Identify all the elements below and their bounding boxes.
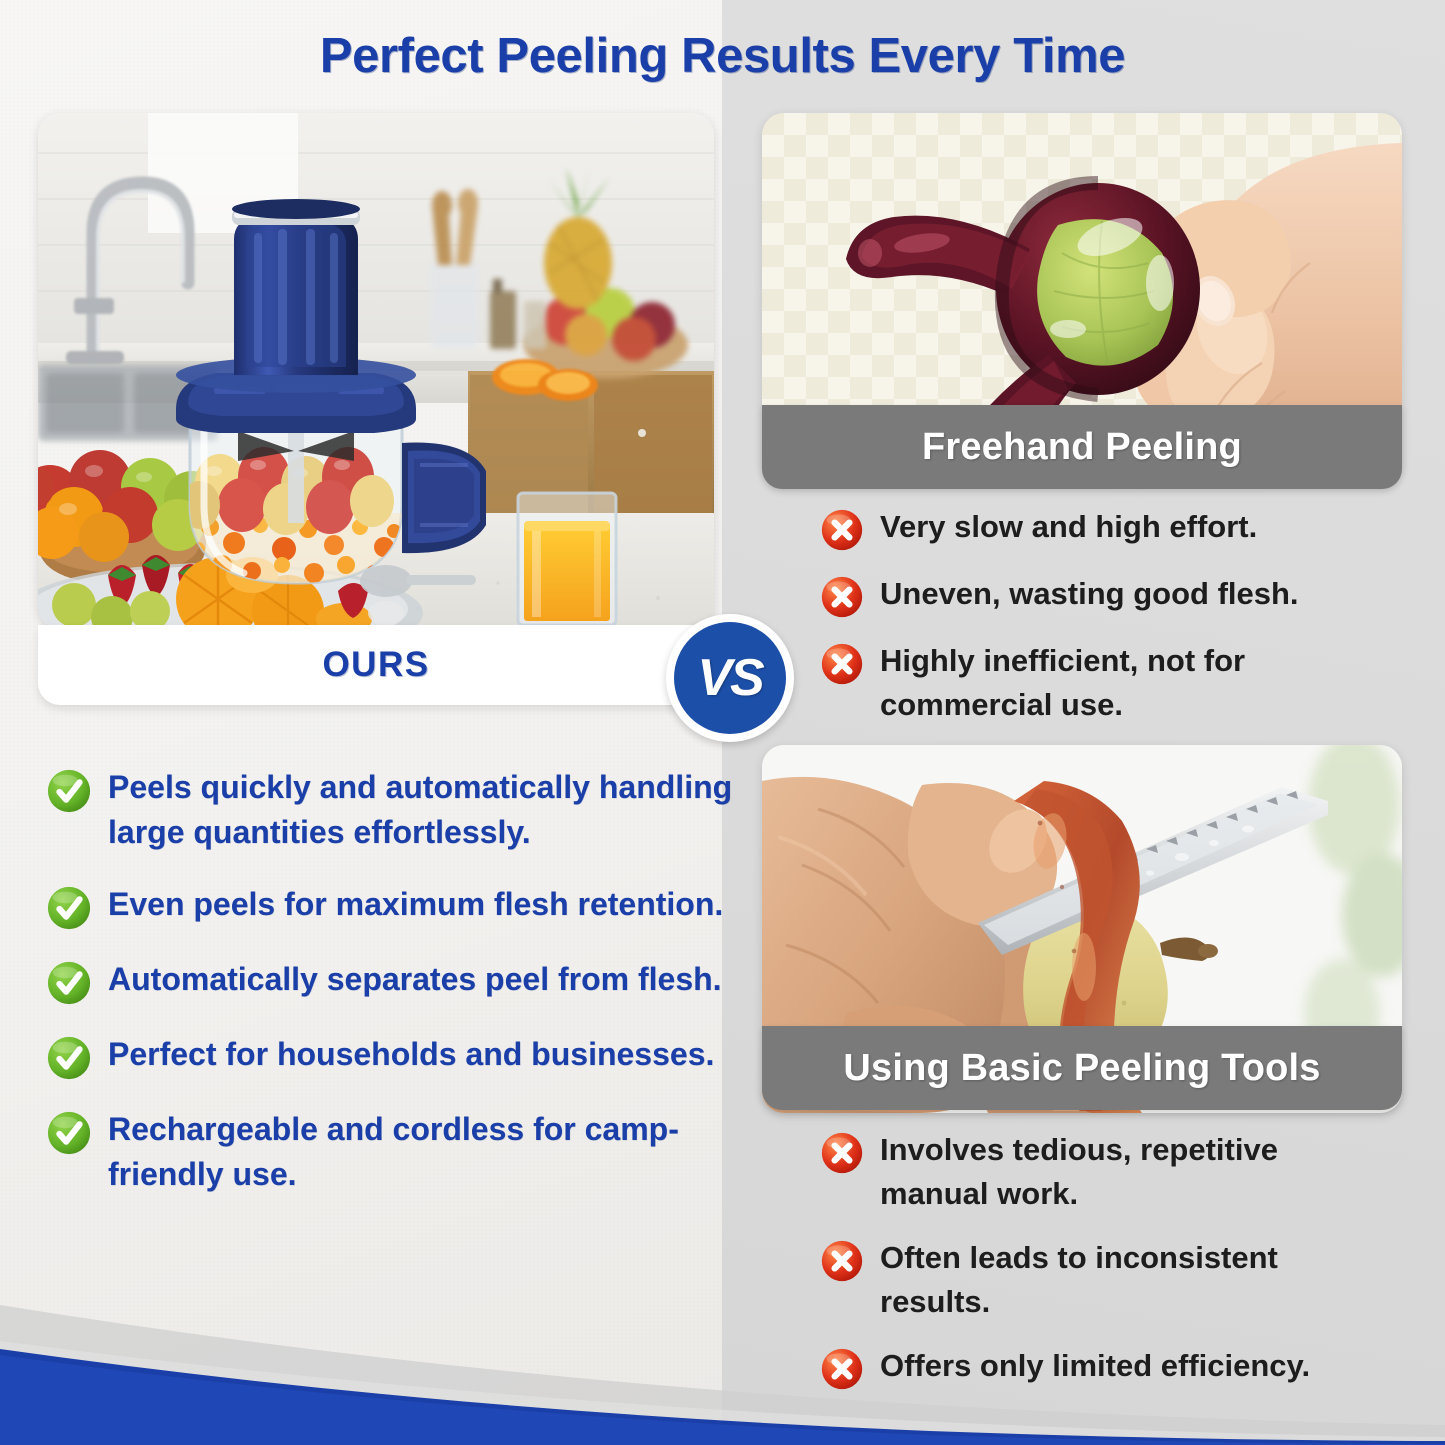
list-item-text: Even peels for maximum flesh retention. <box>108 882 723 927</box>
list-item-text: Involves tedious, repetitive manual work… <box>880 1128 1380 1216</box>
infographic-canvas: OURS VS <box>0 0 1445 1445</box>
list-item: Rechargeable and cordless for camp-frien… <box>46 1107 746 1198</box>
list-item: Uneven, wasting good flesh. <box>820 572 1380 619</box>
check-circle-icon <box>46 768 92 814</box>
list-item-text: Uneven, wasting good flesh. <box>880 572 1299 616</box>
list-item: Peels quickly and automatically handling… <box>46 765 746 856</box>
list-item-text: Very slow and high effort. <box>880 505 1257 549</box>
cross-circle-icon <box>820 508 864 552</box>
cross-circle-icon <box>820 575 864 619</box>
list-item-text: Perfect for households and businesses. <box>108 1032 714 1077</box>
list-item: Involves tedious, repetitive manual work… <box>820 1128 1380 1216</box>
freehand-peeling-label: Freehand Peeling <box>922 426 1242 469</box>
list-item-text: Rechargeable and cordless for camp-frien… <box>108 1107 746 1198</box>
check-circle-icon <box>46 1035 92 1081</box>
list-item: Perfect for households and businesses. <box>46 1032 746 1081</box>
versus-badge: VS <box>666 614 794 742</box>
list-item: Even peels for maximum flesh retention. <box>46 882 746 931</box>
freehand-peeling-banner: Freehand Peeling <box>762 405 1402 489</box>
page-title: Perfect Peeling Results Every Time <box>0 28 1445 84</box>
check-circle-icon <box>46 960 92 1006</box>
ours-product-photo <box>38 113 714 629</box>
check-circle-icon <box>46 885 92 931</box>
freehand-drawbacks-list: Very slow and high effort. Uneven, wasti… <box>820 505 1380 747</box>
ours-label-card: OURS <box>38 625 714 705</box>
ours-label: OURS <box>322 645 429 685</box>
list-item: Very slow and high effort. <box>820 505 1380 552</box>
list-item-text: Highly inefficient, not for commercial u… <box>880 639 1380 727</box>
cross-circle-icon <box>820 642 864 686</box>
list-item-text: Peels quickly and automatically handling… <box>108 765 746 856</box>
list-item-text: Automatically separates peel from flesh. <box>108 957 722 1002</box>
basic-tools-banner: Using Basic Peeling Tools <box>762 1026 1402 1110</box>
cross-circle-icon <box>820 1131 864 1175</box>
versus-badge-inner: VS <box>674 622 786 734</box>
list-item: Highly inefficient, not for commercial u… <box>820 639 1380 727</box>
bottom-wave-decoration <box>0 1245 1445 1445</box>
ours-benefits-list: Peels quickly and automatically handling… <box>46 765 746 1224</box>
versus-badge-label: VS <box>697 652 762 704</box>
check-circle-icon <box>46 1110 92 1156</box>
basic-tools-label: Using Basic Peeling Tools <box>843 1047 1320 1090</box>
list-item: Automatically separates peel from flesh. <box>46 957 746 1006</box>
